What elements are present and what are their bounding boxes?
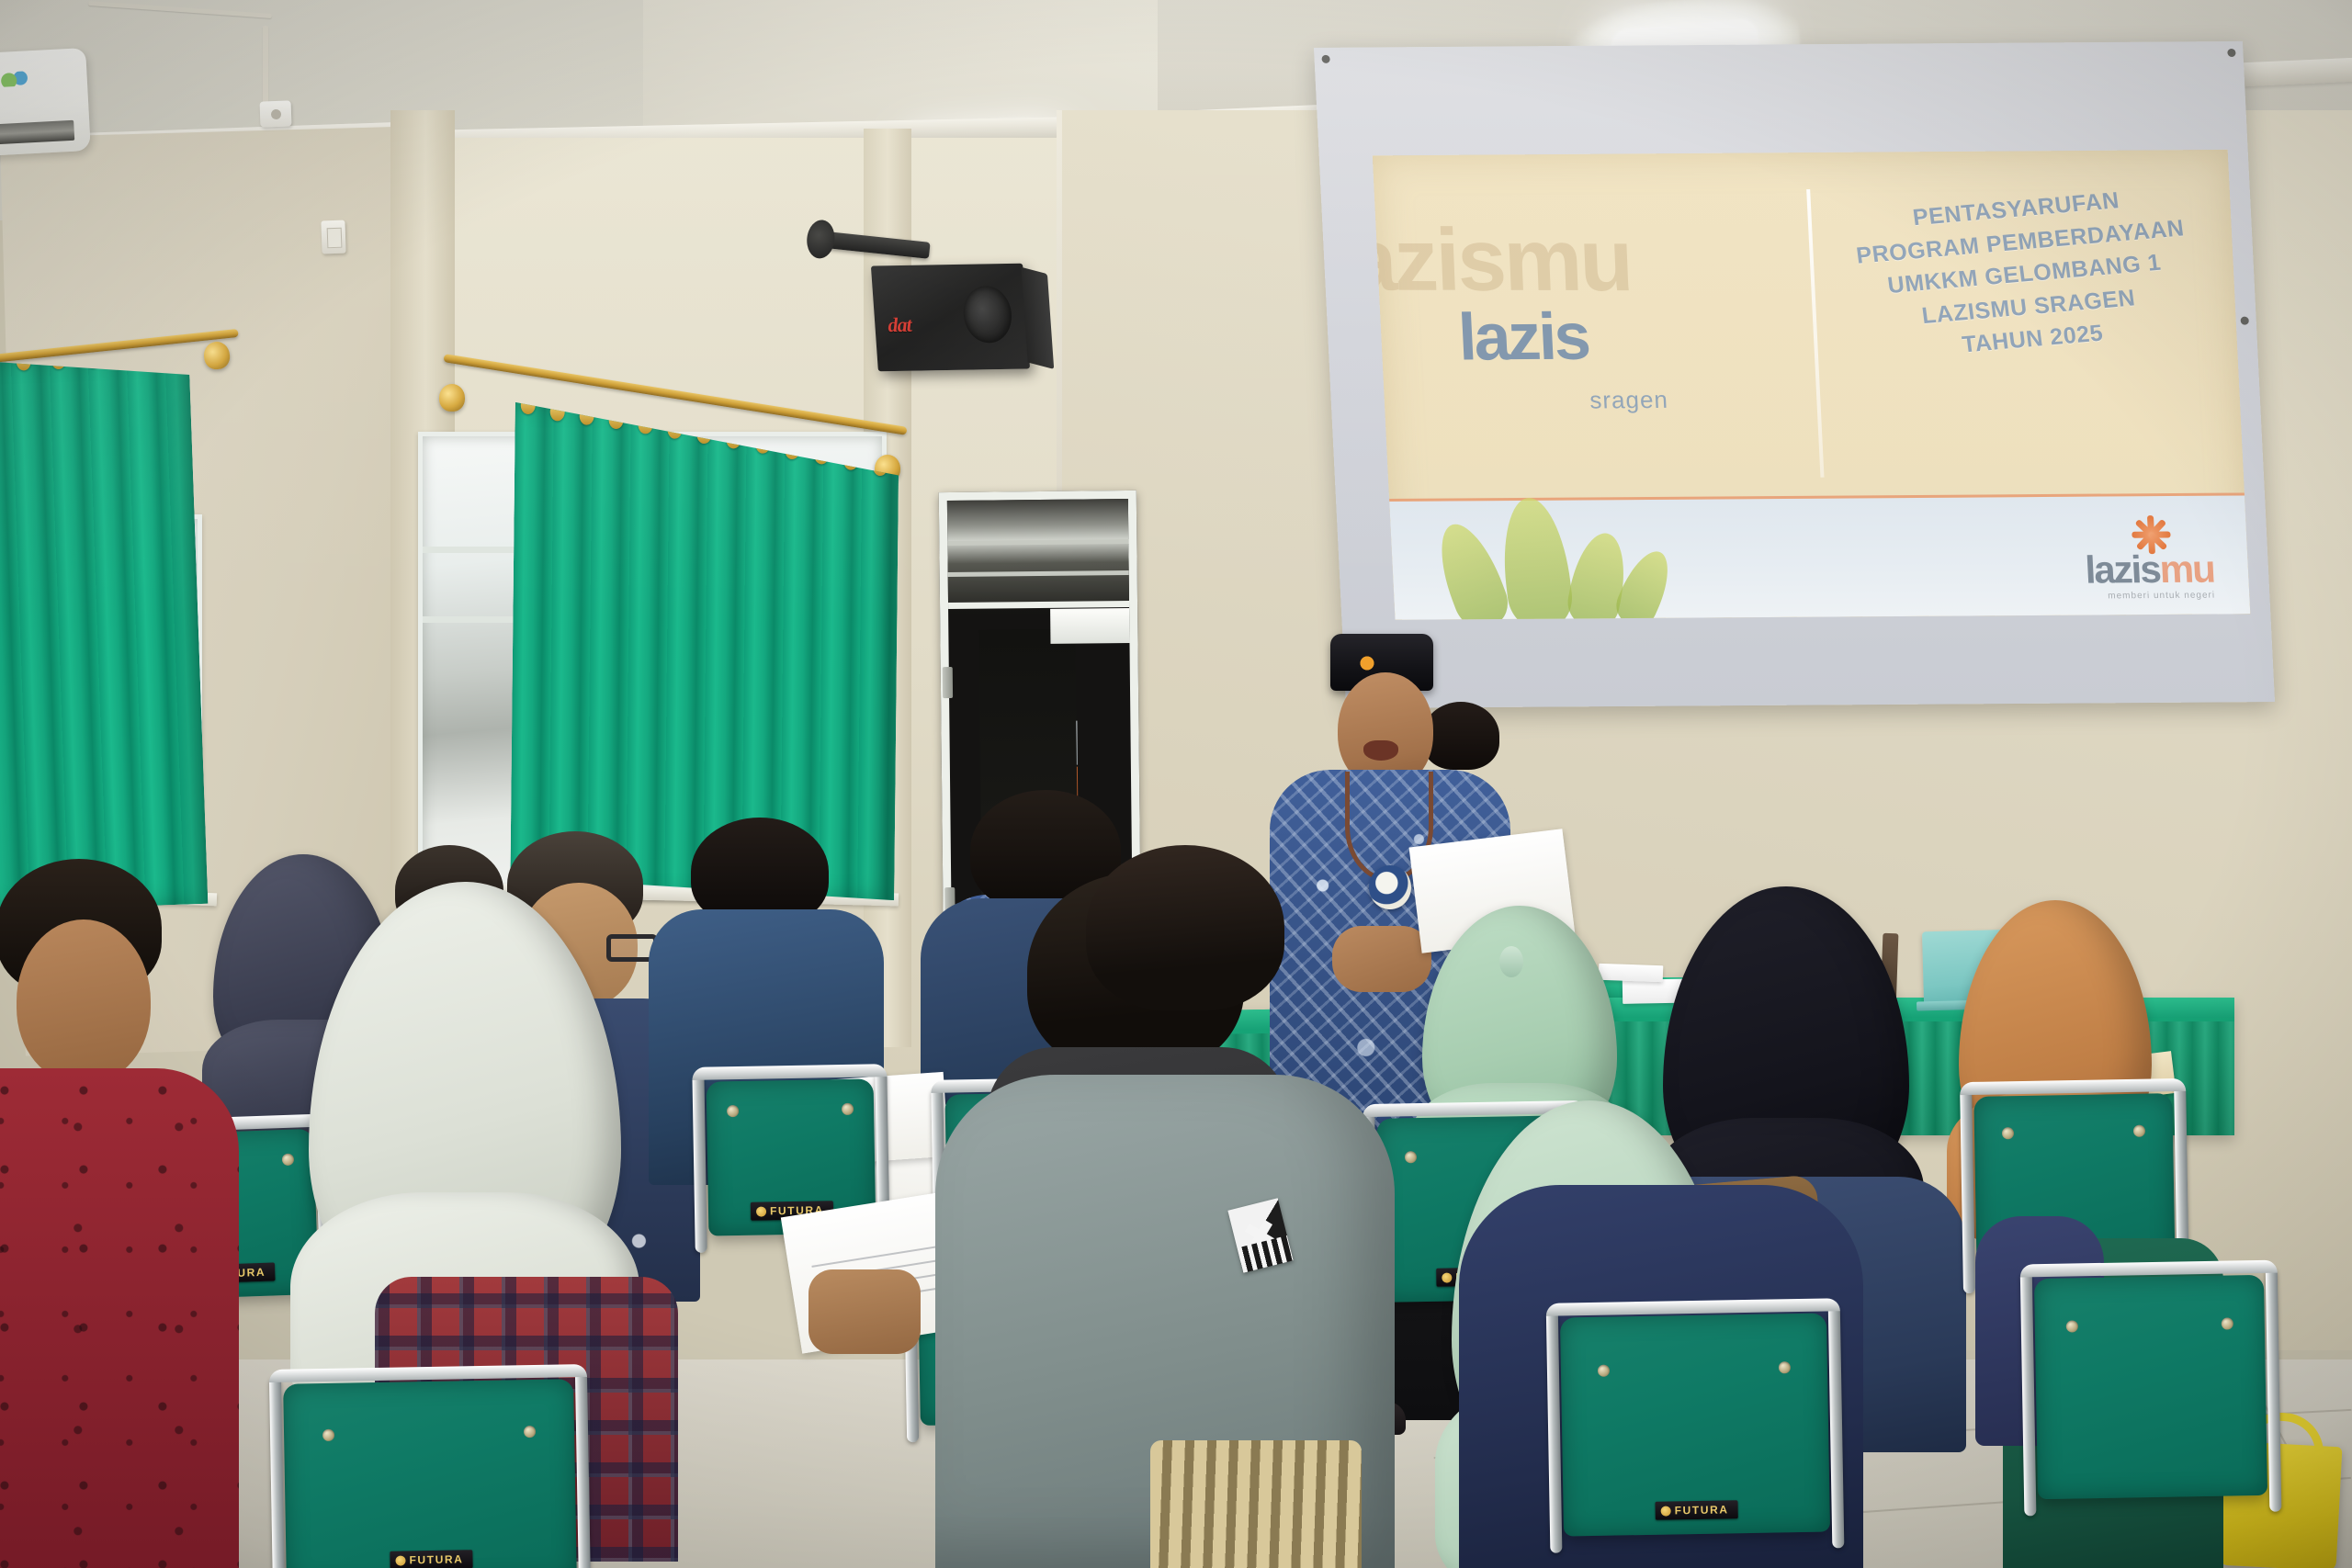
muhammadiyah-emblem-icon (1355, 651, 1379, 675)
screen-clip-tl (1321, 55, 1329, 63)
curtain-finial-center-left (439, 384, 465, 412)
transom-window (947, 499, 1129, 609)
paper-stack-table-2 (1599, 964, 1664, 982)
corner-logo-lazis: lazis (2084, 547, 2160, 592)
chair-front-left[interactable]: FUTURA (283, 1379, 577, 1568)
chair-brand-label: FUTURA (409, 1552, 463, 1566)
air-conditioner (0, 48, 91, 156)
curtain-left (0, 353, 208, 911)
hijab-knot (1499, 946, 1523, 977)
wall-outlet[interactable] (260, 100, 292, 127)
striped-sarong (1150, 1440, 1362, 1568)
speaker-cone (962, 286, 1013, 344)
slide-brand-lazis: lazis (1457, 308, 1589, 368)
speaker-brand-label: dat (888, 313, 912, 337)
hand-holding-pen (808, 1269, 921, 1354)
presenter-mouth (1363, 740, 1398, 761)
slide-title-block: PENTASYARUFAN PROGRAM PEMBERDAYAAN UMKKM… (1815, 176, 2234, 373)
presentation-slide: lazismu lazis sragen PENTASYARUFAN PROGR… (1373, 150, 2251, 620)
light-switch[interactable] (321, 220, 345, 254)
ac-vent (0, 120, 75, 145)
slide-brand-sragen: sragen (1589, 386, 1669, 415)
screen-clip-tr (2227, 49, 2235, 57)
chair-right-front[interactable] (2034, 1275, 2267, 1499)
chair-brand-label: FUTURA (1675, 1503, 1729, 1517)
projection-screen: lazismu lazis sragen PENTASYARUFAN PROGR… (1314, 41, 2275, 708)
curtain-center (510, 402, 899, 900)
wall-conduit-2 (263, 26, 268, 107)
doorway-daylight (1050, 608, 1129, 644)
chair-front-right[interactable]: FUTURA (1560, 1313, 1830, 1536)
slide-corner-logo: lazismu memberi untuk negeri (2084, 549, 2215, 601)
corner-logo-mu: mu (2158, 547, 2214, 590)
wall-audio-speaker: dat (871, 264, 1030, 372)
ac-brand-badge (0, 71, 28, 87)
presenter-hands (1332, 926, 1431, 992)
screen-clip-mr (2240, 317, 2248, 325)
door-hinge-upper (943, 667, 953, 698)
seminar-room-photo: dat (0, 0, 2352, 1568)
corner-logo-tagline: memberi untuk negeri (2086, 590, 2216, 601)
presenter-id-badge (1369, 865, 1411, 909)
